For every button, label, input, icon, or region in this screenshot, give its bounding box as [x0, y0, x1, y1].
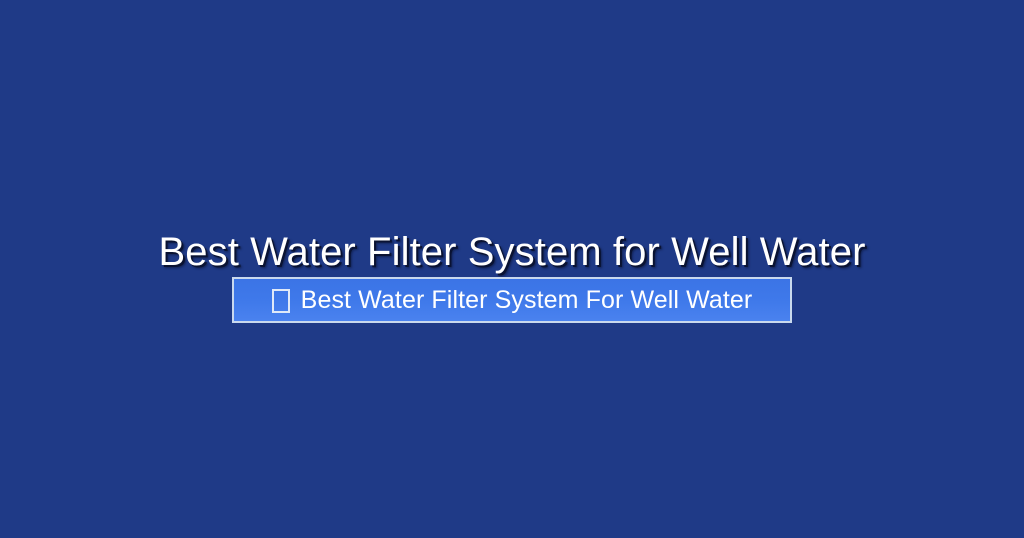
- cta-best-water-filter-system-button[interactable]: Best Water Filter System For Well Water: [232, 277, 792, 323]
- cta-container: Best Water Filter System For Well Water: [0, 277, 1024, 323]
- missing-glyph-box-icon: [272, 289, 290, 313]
- page-canvas: Best Water Filter System for Well Water …: [0, 0, 1024, 538]
- cta-button-label: Best Water Filter System For Well Water: [301, 288, 753, 313]
- page-title: Best Water Filter System for Well Water: [0, 225, 1024, 279]
